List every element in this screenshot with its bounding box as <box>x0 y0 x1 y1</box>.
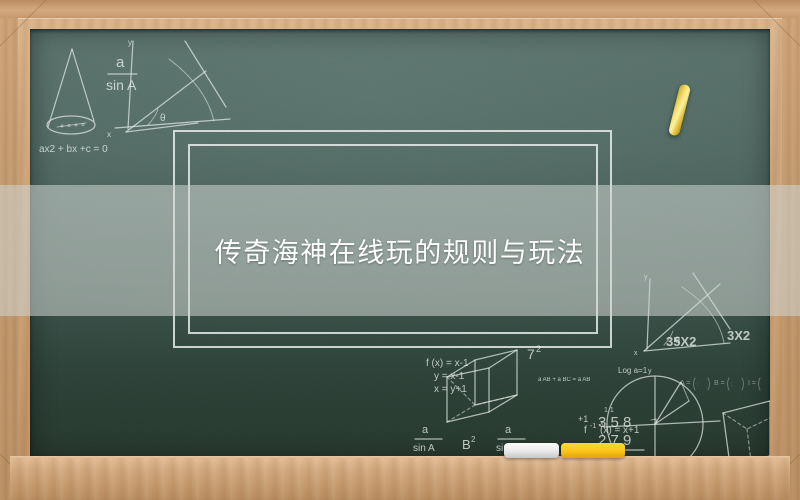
page-title: 传奇海神在线玩的规则与玩法 <box>0 185 800 316</box>
ledge-white-chalk <box>504 443 559 458</box>
wooden-frame-top-bevel <box>0 0 800 18</box>
chalk-ledge <box>10 458 790 500</box>
screenshot-stage: a sin A ax2 + bx +c = 0 x y <box>0 0 800 500</box>
ledge-yellow-chalk <box>561 443 625 458</box>
